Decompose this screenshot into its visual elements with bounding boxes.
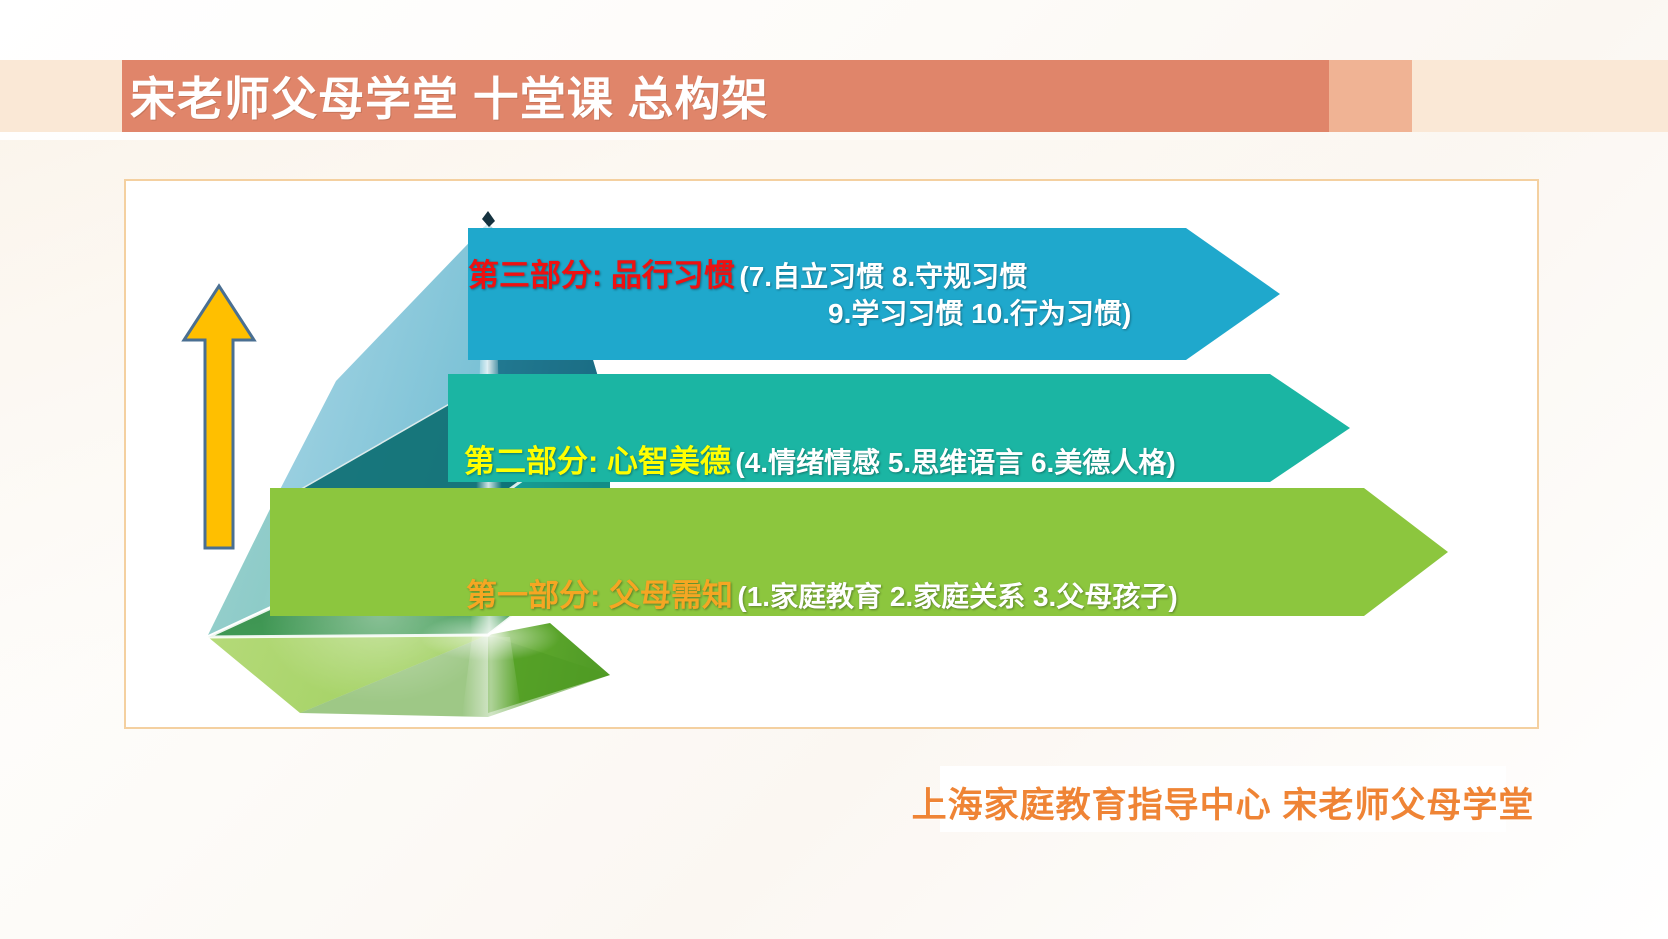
slide: 宋老师父母学堂 十堂课 总构架 [0, 0, 1668, 939]
tier-3-detail-line-2: 9.学习习惯 10.行为习惯) [828, 298, 1131, 329]
tier-2-label: 第二部分: 心智美德 (4.情绪情感 5.思维语言 6.美德人格) [464, 444, 1176, 480]
tier-2-lead: 第二部分: 心智美德 [464, 444, 731, 479]
tier-2-detail-line-1: (4.情绪情感 5.思维语言 6.美德人格) [735, 447, 1175, 478]
tier-1-detail-line-1: (1.家庭教育 2.家庭关系 3.父母孩子) [737, 581, 1177, 612]
tier-1-banner[interactable]: 第一部分: 父母需知 (1.家庭教育 2.家庭关系 3.父母孩子) [270, 488, 1448, 616]
tier-3-lead: 第三部分: 品行习惯 [468, 258, 735, 293]
page-title: 宋老师父母学堂 十堂课 总构架 [130, 60, 769, 132]
tier-1-label: 第一部分: 父母需知 (1.家庭教育 2.家庭关系 3.父母孩子) [466, 578, 1178, 614]
tier-3-label: 第三部分: 品行习惯 (7.自立习惯 8.守规习惯 9.学习习惯 10.行为习惯… [468, 258, 1131, 330]
tier-1-lead: 第一部分: 父母需知 [466, 578, 733, 613]
footer-branding: 上海家庭教育指导中心 宋老师父母学堂 [958, 778, 1488, 826]
tier-3-banner[interactable]: 第三部分: 品行习惯 (7.自立习惯 8.守规习惯 9.学习习惯 10.行为习惯… [468, 228, 1280, 360]
tier-3-detail-line-1: (7.自立习惯 8.守规习惯 [739, 261, 1027, 292]
tier-2-banner[interactable]: 第二部分: 心智美德 (4.情绪情感 5.思维语言 6.美德人格) [448, 374, 1350, 482]
